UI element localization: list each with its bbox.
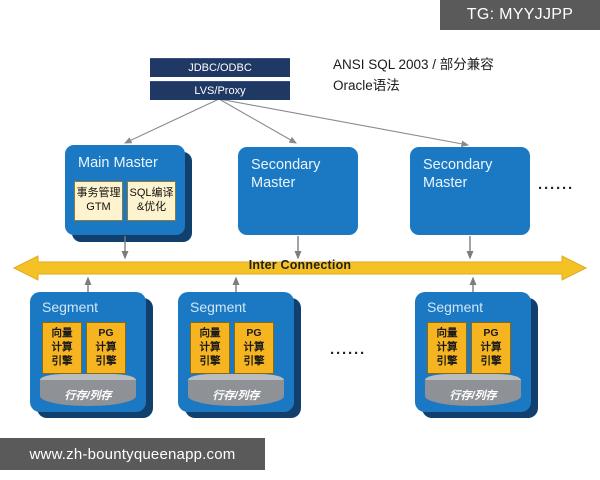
protocol-bar-jdbc-odbc: JDBC/ODBC xyxy=(150,58,290,77)
storage-label: 行存/列存 xyxy=(188,380,284,406)
storage-cylinder: 行存/列存 xyxy=(188,374,284,406)
master-row-ellipsis: ······ xyxy=(538,180,574,197)
engine-pg: PG 计算 引擎 xyxy=(86,322,126,374)
node-segment-2: Segment 向量 计算 引擎 PG 计算 引擎 行存/列存 xyxy=(178,292,294,412)
storage-cylinder: 行存/列存 xyxy=(425,374,521,406)
segment-engines: 向量 计算 引擎 PG 计算 引擎 xyxy=(42,322,126,374)
engine-vector: 向量 计算 引擎 xyxy=(42,322,82,374)
node-title: Secondary Master xyxy=(251,156,320,192)
node-secondary-master-2: Secondary Master xyxy=(410,147,530,235)
storage-cylinder: 行存/列存 xyxy=(40,374,136,406)
engine-vector: 向量 计算 引擎 xyxy=(427,322,467,374)
sql-compatibility-note: ANSI SQL 2003 / 部分兼容Oracle语法 xyxy=(333,55,513,97)
interconnect-label: Inter Connection xyxy=(0,258,600,272)
engine-vector: 向量 计算 引擎 xyxy=(190,322,230,374)
node-title: Main Master xyxy=(78,154,158,172)
node-title: Segment xyxy=(42,299,98,315)
node-secondary-master-1: Secondary Master xyxy=(238,147,358,235)
watermark-bottom-left: www.zh-bountyqueenapp.com xyxy=(0,438,265,470)
engine-pg: PG 计算 引擎 xyxy=(234,322,274,374)
storage-label: 行存/列存 xyxy=(40,380,136,406)
node-title: Secondary Master xyxy=(423,156,492,192)
storage-label: 行存/列存 xyxy=(425,380,521,406)
protocol-bar-label: LVS/Proxy xyxy=(194,85,245,97)
node-main-master: Main Master 事务管理GTM SQL编译&优化 xyxy=(65,145,185,235)
module-sql-optimizer: SQL编译&优化 xyxy=(127,181,176,221)
node-segment-1: Segment 向量 计算 引擎 PG 计算 引擎 行存/列存 xyxy=(30,292,146,412)
segment-engines: 向量 计算 引擎 PG 计算 引擎 xyxy=(190,322,274,374)
segment-engines: 向量 计算 引擎 PG 计算 引擎 xyxy=(427,322,511,374)
node-title: Segment xyxy=(427,299,483,315)
node-segment-3: Segment 向量 计算 引擎 PG 计算 引擎 行存/列存 xyxy=(415,292,531,412)
main-master-modules: 事务管理GTM SQL编译&优化 xyxy=(74,181,176,221)
protocol-bar-label: JDBC/ODBC xyxy=(188,62,252,74)
node-title: Segment xyxy=(190,299,246,315)
watermark-top-right: TG: MYYJJPP xyxy=(440,0,600,30)
segment-row-ellipsis: ······ xyxy=(330,345,366,362)
module-gtm: 事务管理GTM xyxy=(74,181,123,221)
engine-pg: PG 计算 引擎 xyxy=(471,322,511,374)
diagram-canvas: JDBC/ODBC LVS/Proxy ANSI SQL 2003 / 部分兼容… xyxy=(0,0,600,480)
protocol-bar-lvs-proxy: LVS/Proxy xyxy=(150,81,290,100)
